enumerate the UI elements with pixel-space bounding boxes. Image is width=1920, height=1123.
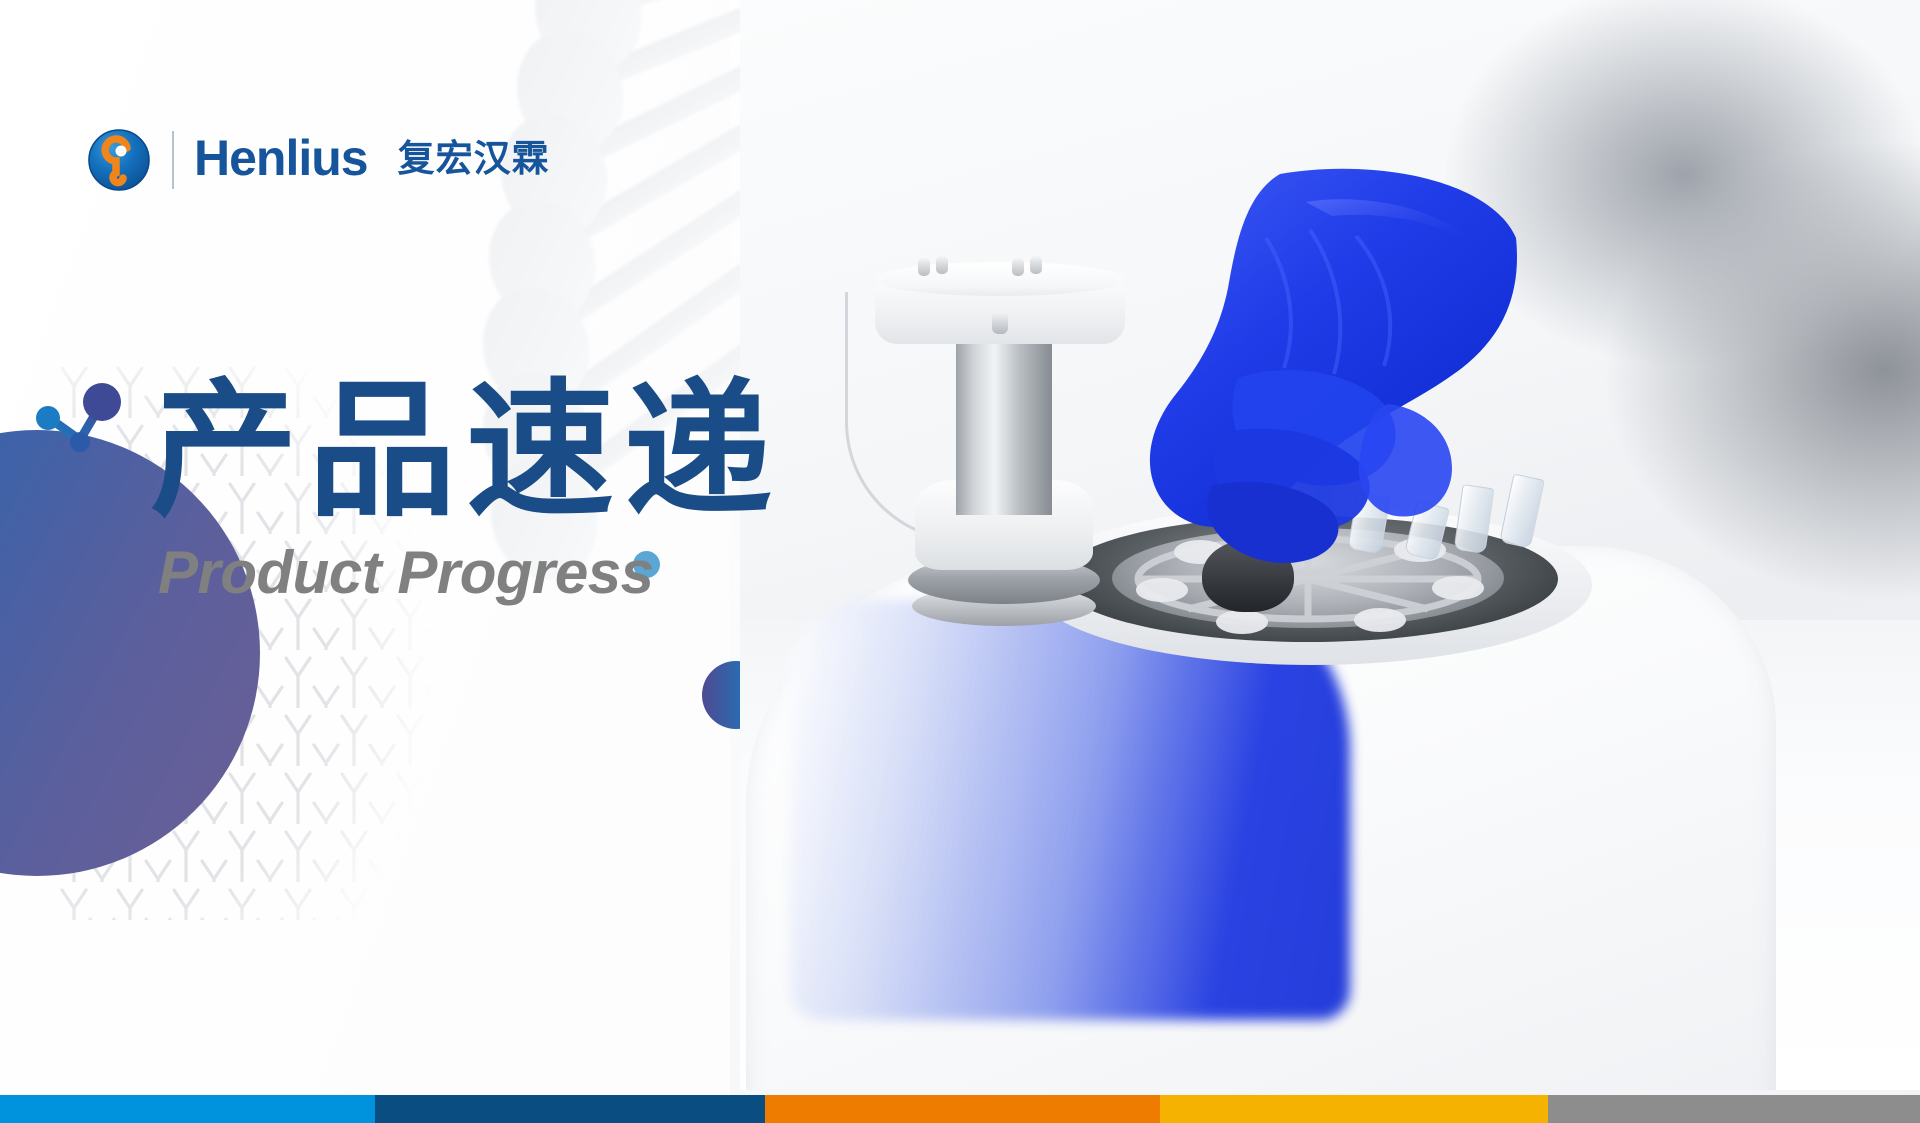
color-bar-segment-amber <box>1160 1095 1548 1123</box>
gloved-hand <box>1070 168 1520 588</box>
henlius-logo[interactable]: Henlius 复宏汉霖 <box>88 124 550 196</box>
column-knob-right2 <box>1030 256 1042 274</box>
slide-canvas: Henlius 复宏汉霖 产品速递 Product Progress <box>0 0 1920 1123</box>
color-bar-segment-deep-blue <box>375 1095 765 1123</box>
color-bar-segment-cyan-blue <box>0 1095 375 1123</box>
lab-centrifuge-photo <box>740 0 1920 1090</box>
headline-block: 产品速递 Product Progress <box>150 372 782 607</box>
logo-name-en: Henlius <box>194 133 368 187</box>
column-knob-left2 <box>936 256 948 274</box>
page-title: 产品速递 <box>150 372 782 532</box>
column-knob-right <box>1012 258 1024 276</box>
color-bar-segment-orange <box>765 1095 1160 1123</box>
color-bar-segment-gray <box>1548 1095 1920 1123</box>
henlius-logo-mark-icon <box>88 129 150 191</box>
page-subtitle: Product Progress <box>158 538 782 607</box>
column-knob-left <box>918 258 930 276</box>
column-shaft <box>956 315 1052 515</box>
brand-color-bar <box>0 1095 1920 1123</box>
logo-name-cn: 复宏汉霖 <box>398 140 550 181</box>
column-front-screw <box>992 312 1008 334</box>
molecule-decoration-small <box>22 378 142 462</box>
logo-divider <box>172 131 174 189</box>
